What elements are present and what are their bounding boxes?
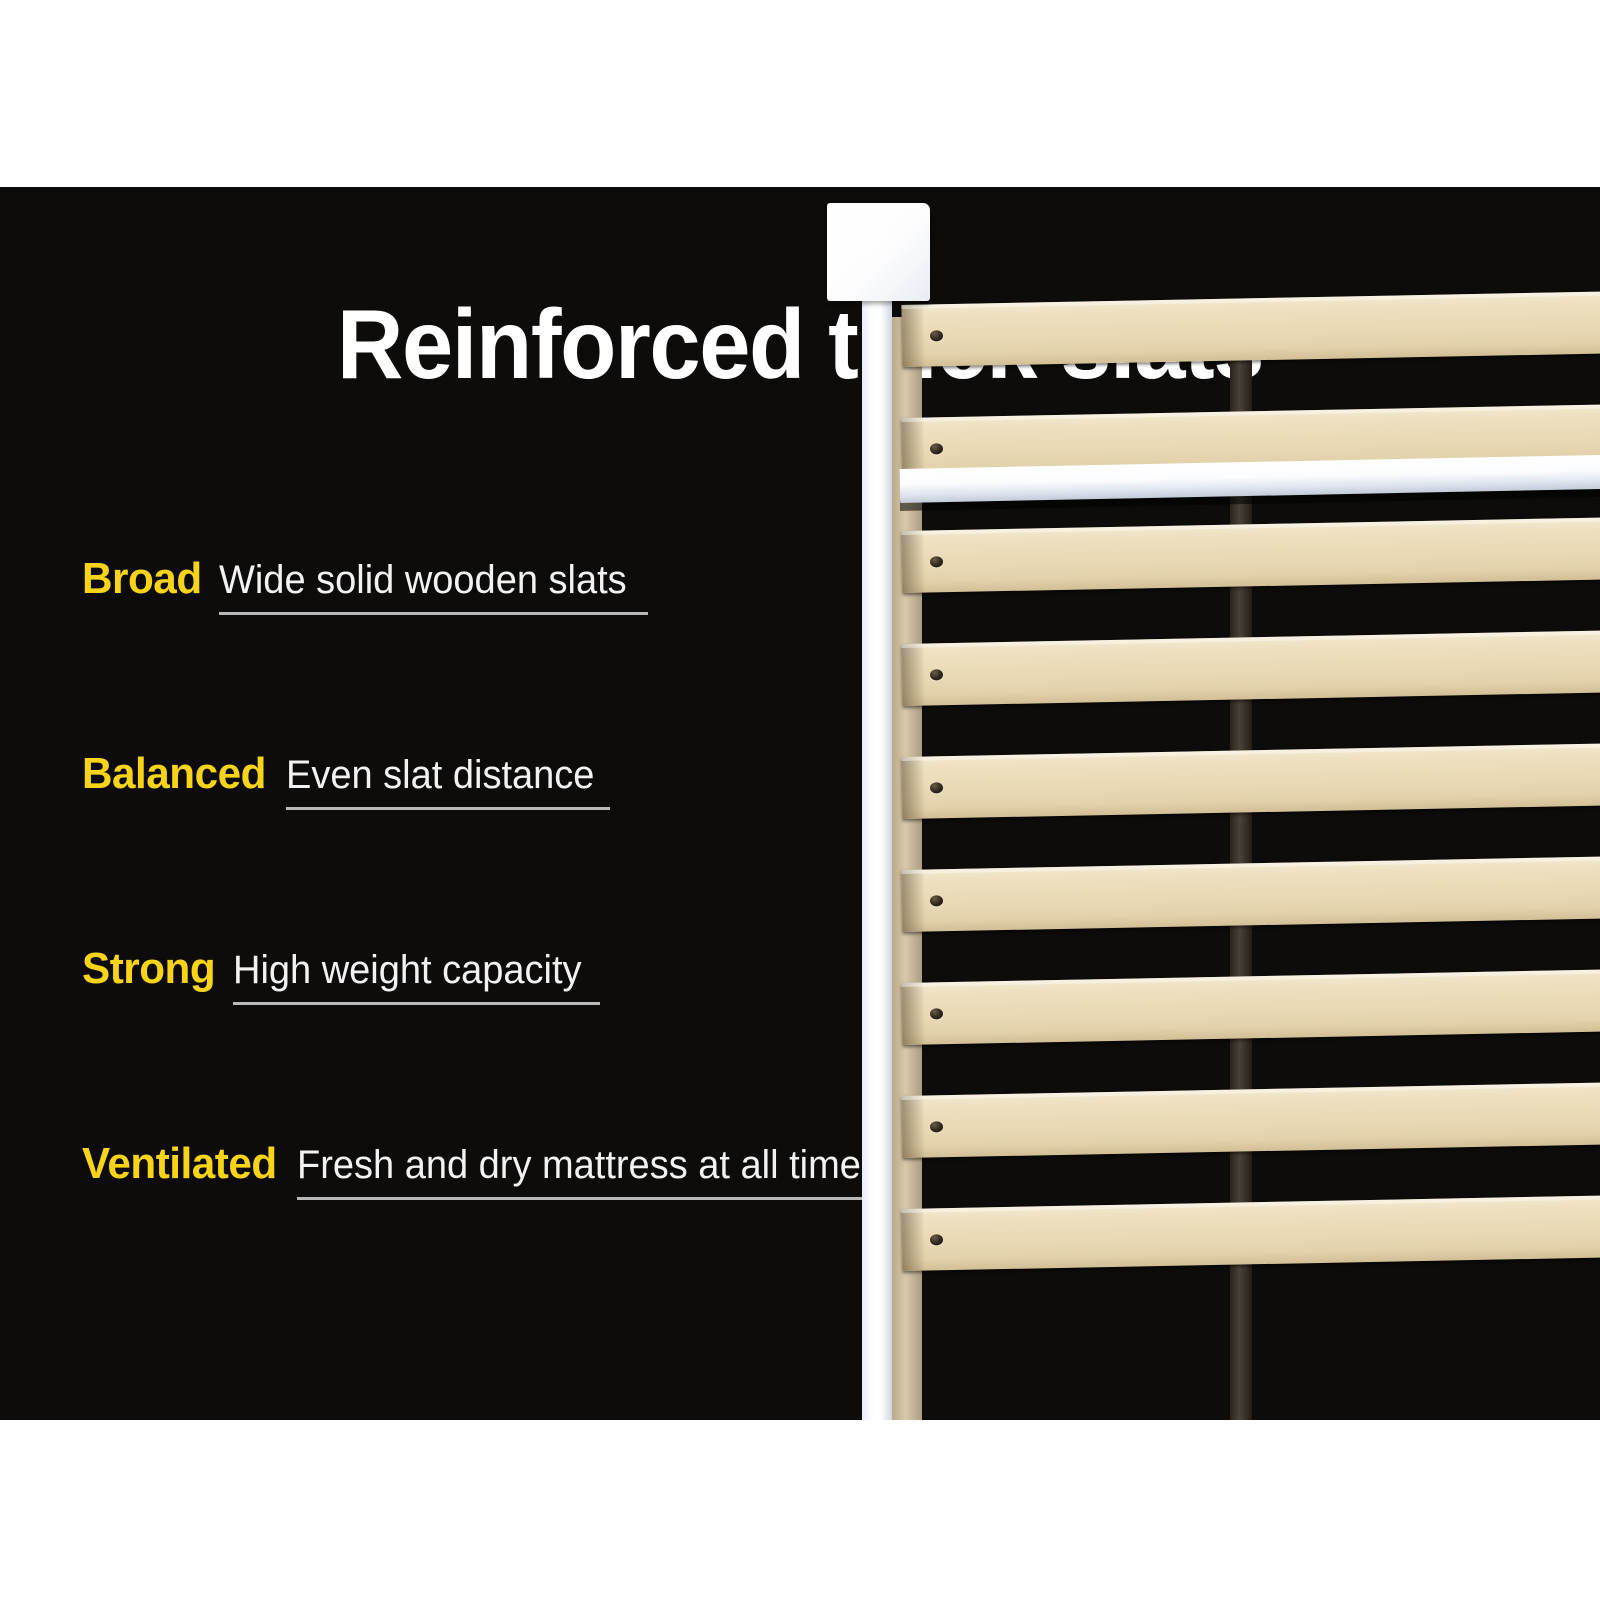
feature-list: Broad Wide solid wooden slats Balanced E…: [82, 557, 822, 1337]
feature-term-strong: Strong: [82, 947, 215, 991]
feature-underline-strong: High weight capacity: [233, 950, 600, 1005]
slat-screw: [930, 1234, 943, 1245]
slat-end-cap: [901, 1096, 924, 1158]
feature-desc-broad: Wide solid wooden slats: [219, 560, 627, 600]
wooden-slat: [901, 743, 1600, 819]
slat-end-cap: [901, 1209, 924, 1271]
corner-post-cap: [827, 203, 930, 301]
slat-screw: [930, 443, 943, 454]
slat-end-cap: [901, 870, 924, 932]
feature-underline-ventilated: Fresh and dry mattress at all times: [297, 1145, 911, 1200]
wooden-slat: [901, 1082, 1600, 1158]
slat-screw: [930, 1008, 943, 1019]
wooden-slat: [901, 856, 1600, 932]
wooden-slat: [901, 291, 1600, 367]
slat-screw: [930, 669, 943, 680]
feature-desc-strong: High weight capacity: [233, 950, 582, 990]
feature-row-ventilated: Ventilated Fresh and dry mattress at all…: [82, 1142, 822, 1337]
feature-row-broad: Broad Wide solid wooden slats: [82, 557, 822, 752]
slat-screw: [930, 895, 943, 906]
feature-desc-balanced: Even slat distance: [286, 755, 594, 795]
wooden-slat: [901, 630, 1600, 706]
slat-end-cap: [901, 644, 924, 706]
slat-end-cap: [901, 757, 924, 819]
slat-end-cap: [901, 531, 924, 593]
feature-term-balanced: Balanced: [82, 752, 266, 796]
feature-term-ventilated: Ventilated: [82, 1142, 277, 1186]
infographic-canvas: Reinforced thick slats Broad Wide solid …: [0, 0, 1600, 1600]
feature-row-balanced: Balanced Even slat distance: [82, 752, 822, 947]
feature-term-broad: Broad: [82, 557, 202, 601]
corner-post-leg: [862, 287, 892, 1420]
wooden-slat: [901, 1195, 1600, 1271]
product-photo-bed-slats: [820, 187, 1600, 1420]
feature-underline-balanced: Even slat distance: [286, 755, 611, 810]
hero-panel: Reinforced thick slats Broad Wide solid …: [0, 187, 1600, 1420]
feature-row-strong: Strong High weight capacity: [82, 947, 822, 1142]
wooden-slat: [901, 517, 1600, 593]
wooden-slat: [901, 969, 1600, 1045]
slat-end-cap: [901, 983, 924, 1045]
slat-screw: [930, 1121, 943, 1132]
slat-end-cap: [901, 305, 924, 367]
slat-screw: [930, 782, 943, 793]
slat-screw: [930, 330, 943, 341]
feature-underline-broad: Wide solid wooden slats: [219, 560, 648, 615]
slat-screw: [930, 556, 943, 567]
feature-desc-ventilated: Fresh and dry mattress at all times: [297, 1145, 880, 1185]
